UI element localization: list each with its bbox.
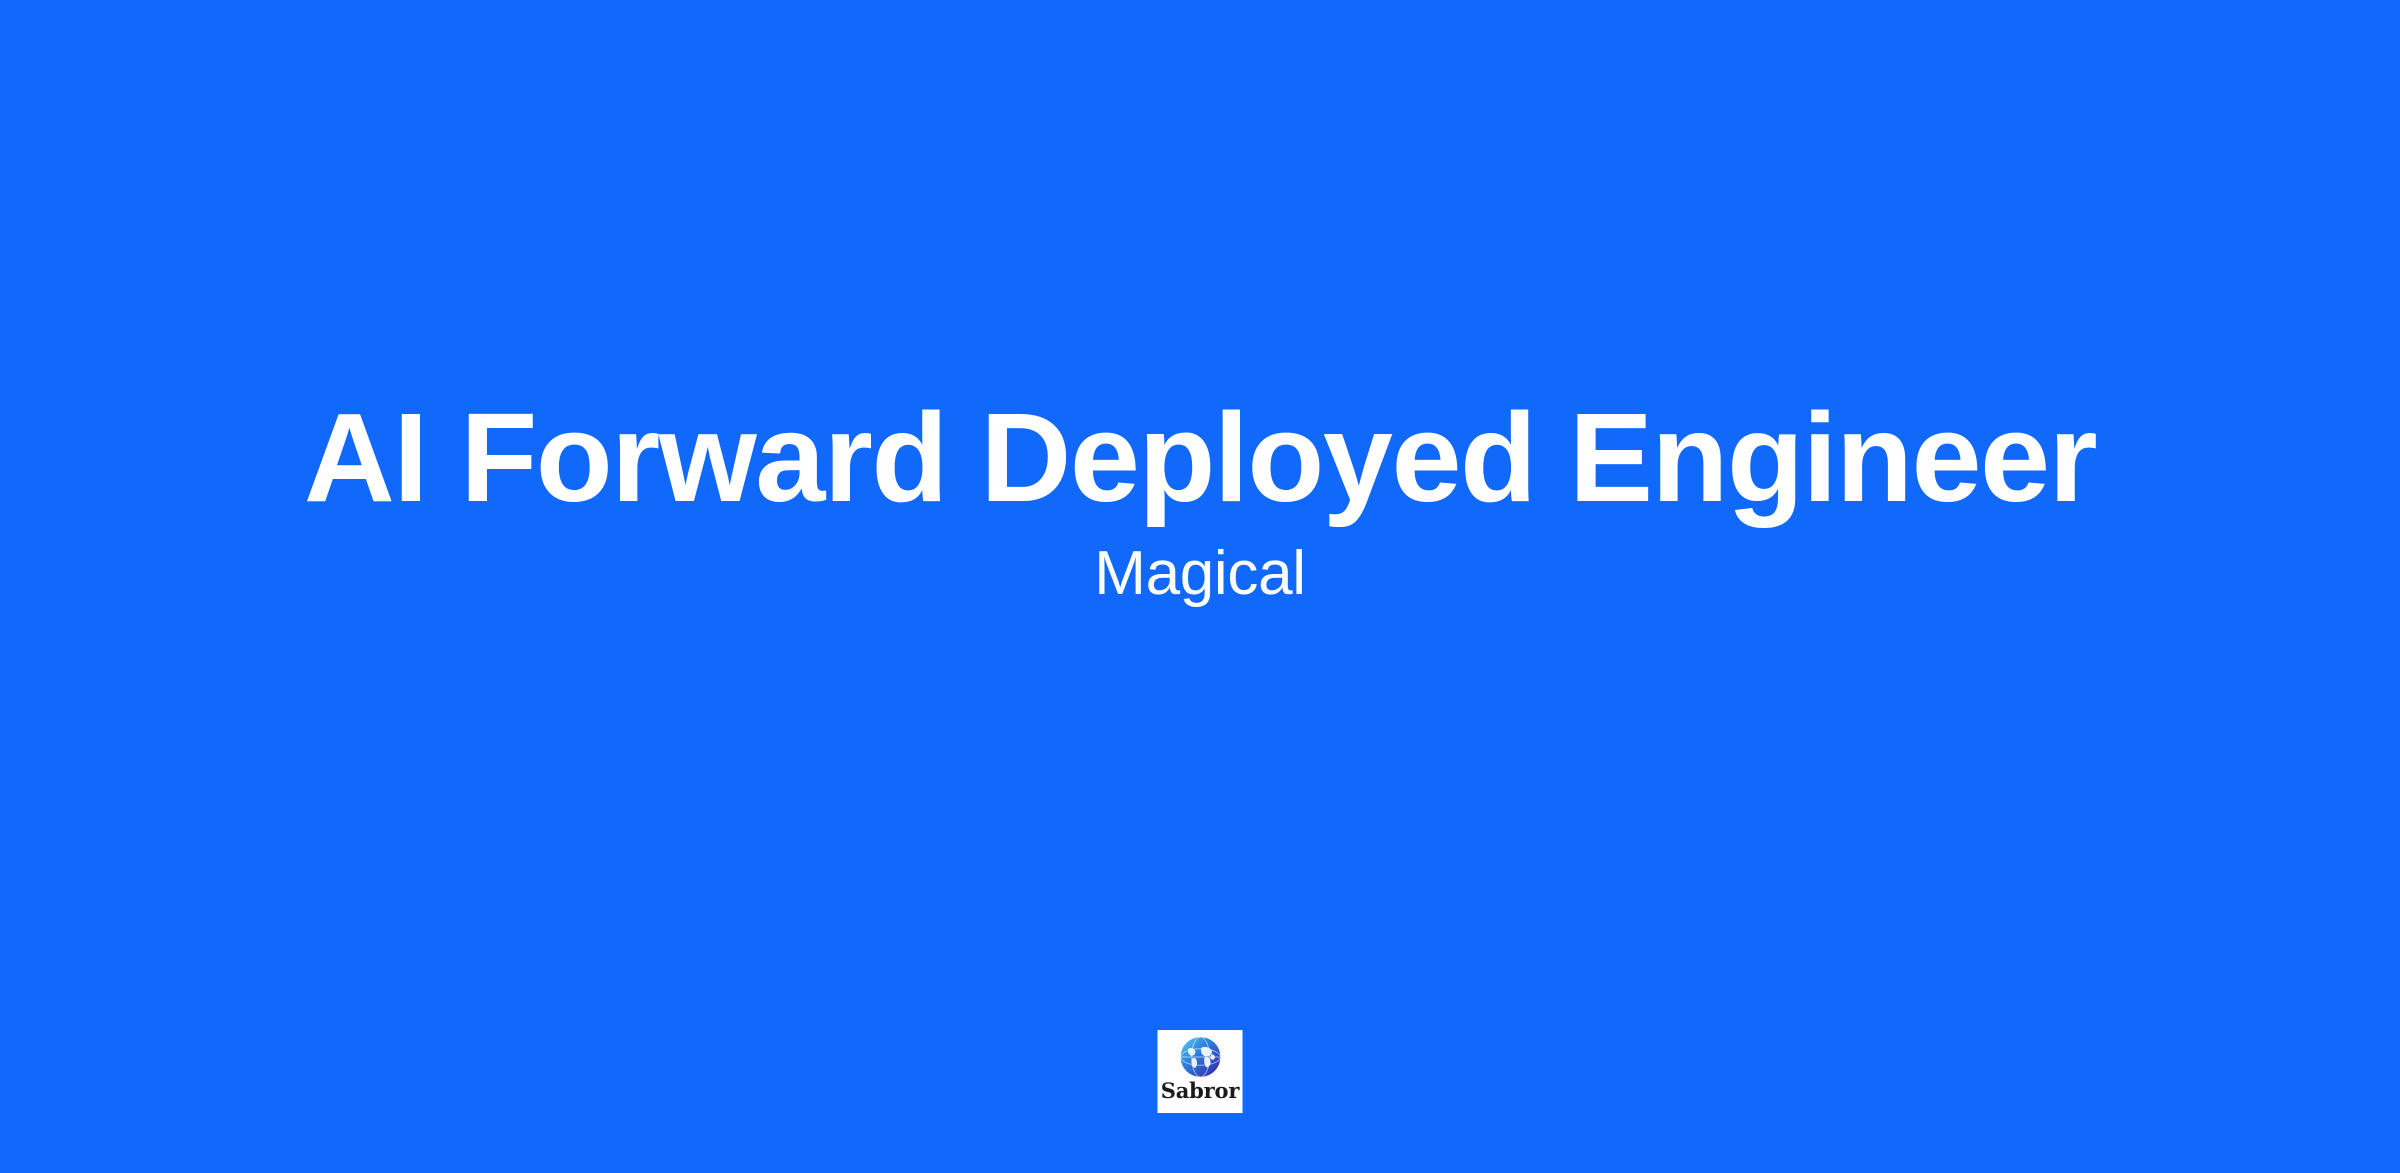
brand-wordmark: Sabror: [1161, 1080, 1239, 1101]
title-block: AI Forward Deployed Engineer Magical: [0, 395, 2400, 605]
page-title: AI Forward Deployed Engineer: [0, 395, 2400, 521]
page-subtitle: Magical: [0, 521, 2400, 605]
brand-logo: Sabror: [1158, 1030, 1243, 1113]
globe-icon: [1178, 1035, 1222, 1079]
slide-canvas: AI Forward Deployed Engineer Magical: [0, 0, 2400, 1173]
